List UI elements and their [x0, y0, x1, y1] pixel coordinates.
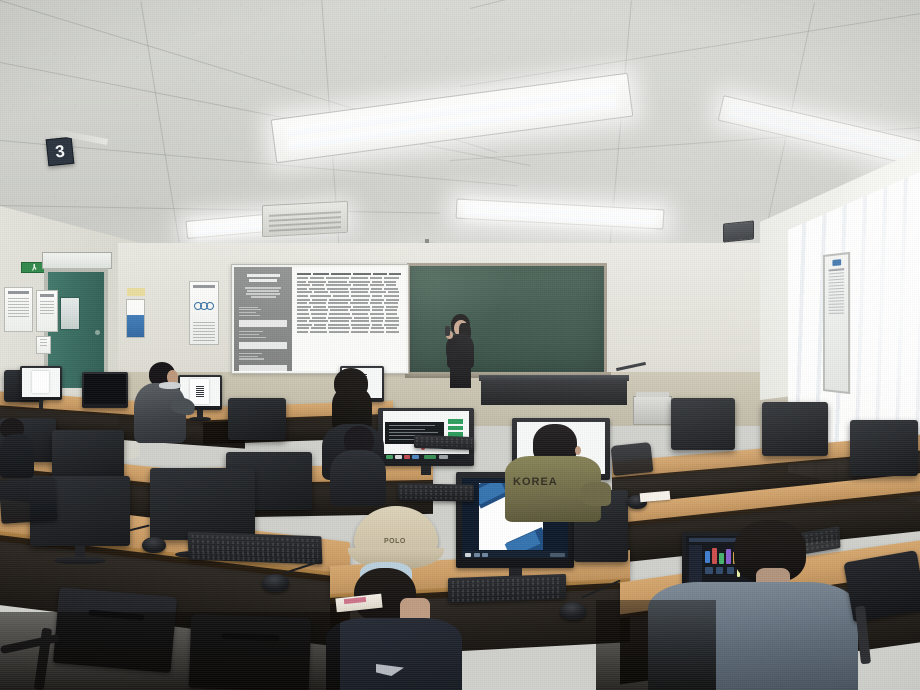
status-panel-green: [448, 426, 463, 431]
student-back-left: [131, 362, 191, 452]
cap-logo-text: POLO: [384, 538, 406, 545]
table-row: [297, 281, 401, 283]
monitor-front-left-b: [150, 468, 255, 540]
keyboard[interactable]: [448, 574, 566, 603]
student-far-left-edge: [0, 418, 34, 476]
student-arm: [581, 482, 611, 506]
document-qr-block: [196, 385, 204, 397]
student-torso: [0, 434, 34, 478]
keyboard[interactable]: [188, 532, 323, 565]
status-panel-green: [448, 419, 463, 424]
taskbar-start-icon[interactable]: [465, 553, 471, 557]
stacking-chair[interactable]: [0, 476, 57, 524]
presenter-arm: [446, 338, 457, 360]
notice-logo-icon: [832, 259, 841, 266]
mouse[interactable]: [262, 574, 289, 592]
slide-divider-bar: [239, 342, 287, 349]
table-row: [297, 313, 401, 315]
slide-content: [234, 267, 406, 371]
table-row: [297, 291, 401, 293]
taskbar-item[interactable]: [404, 455, 411, 459]
air-conditioner-ceiling: [262, 201, 348, 238]
monitor-back-left-doc[interactable]: [20, 366, 62, 400]
table-row: [297, 320, 401, 322]
table-row: [297, 277, 401, 279]
taskbar-tray-clock[interactable]: [550, 553, 565, 557]
printer-tray: [636, 392, 669, 397]
student-center-code: [330, 426, 386, 504]
taskbar-item[interactable]: [386, 455, 393, 459]
room-number-sign-3: 3: [46, 137, 75, 167]
poster-left-notice-a: [4, 287, 33, 332]
teacher-podium-console: [481, 379, 627, 405]
slide-sidebar: [234, 267, 292, 371]
monitor-row1-b: [228, 398, 286, 440]
poster-left-small: [36, 336, 51, 354]
taskbar[interactable]: [383, 454, 469, 460]
blackboard-glare: [407, 263, 607, 375]
taskbar-item[interactable]: [439, 455, 448, 459]
door-transom-window: [42, 252, 112, 269]
notice-board-right-near: [823, 252, 850, 394]
slide-table: [292, 267, 406, 371]
poster-rings-diagram: [189, 281, 219, 345]
slide-divider-bar: [239, 365, 287, 372]
foreground-shadow: [596, 600, 716, 690]
door-handle[interactable]: [95, 330, 100, 335]
table-row: [297, 295, 401, 297]
podium-top: [479, 375, 629, 381]
slide-divider-bar: [239, 320, 287, 327]
document-page: [32, 371, 49, 393]
poster-left-notice-b: [36, 290, 58, 332]
keyboard[interactable]: [398, 483, 475, 501]
taskbar-item[interactable]: [395, 455, 402, 459]
presenter-legs: [450, 366, 471, 388]
foreground-shadow: [0, 612, 340, 690]
monitor-right-back-b: [762, 402, 828, 456]
presenter: [440, 314, 480, 384]
stacking-chair[interactable]: [611, 442, 654, 476]
table-row: [297, 317, 401, 319]
mouse[interactable]: [560, 602, 586, 620]
taskbar-item[interactable]: [474, 553, 480, 557]
printer: [633, 396, 672, 425]
monitor-right-back-c: [850, 420, 918, 476]
table-row: [297, 284, 401, 286]
monitor-screen[interactable]: [22, 368, 60, 397]
monitor-mid-left-b: [52, 430, 124, 480]
taskbar[interactable]: [462, 551, 568, 558]
table-row: [297, 288, 401, 290]
table-header-row: [297, 273, 401, 275]
table-row: [297, 299, 401, 301]
monitor-row1-a[interactable]: [82, 372, 128, 408]
table-row: [297, 327, 401, 329]
student-korea: KOREA: [503, 424, 605, 520]
taskbar-item[interactable]: [482, 553, 488, 557]
table-row: [297, 306, 401, 308]
student-torso: [326, 618, 462, 690]
poster-yellow-note: [127, 288, 145, 296]
classroom-photo: 3 1: [0, 0, 920, 690]
table-row: [297, 302, 401, 304]
table-row: [297, 331, 401, 333]
monitor-screen[interactable]: [84, 374, 125, 404]
table-row: [297, 324, 401, 326]
student-ear: [575, 446, 581, 455]
taskbar-item[interactable]: [424, 455, 436, 459]
mouse[interactable]: [142, 537, 166, 553]
poster-blue-flyer: [126, 299, 145, 338]
taskbar-item[interactable]: [412, 455, 419, 459]
shirt-text-korea: KOREA: [513, 476, 558, 488]
ceiling-speaker-right: [723, 220, 754, 242]
microphone[interactable]: [445, 326, 450, 336]
door-window: [60, 297, 80, 330]
monitor-right-back-a: [671, 398, 735, 450]
student-collar: [159, 382, 181, 389]
student-torso: [330, 450, 386, 506]
projection-screen: [231, 264, 409, 374]
keyboard[interactable]: [414, 435, 474, 450]
table-row: [297, 309, 401, 311]
